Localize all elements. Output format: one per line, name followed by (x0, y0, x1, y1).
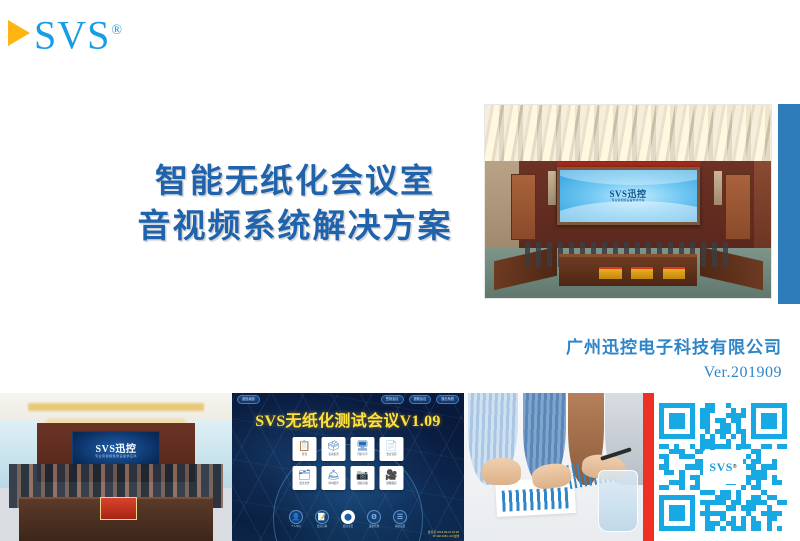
strip-image-conference-room: SVS迅控 专业音视频集成设备供应商 (0, 393, 232, 541)
tile-video-on-demand[interactable]: 📷 视频点播 (351, 466, 375, 490)
left-door (511, 174, 537, 240)
title-line-1: 智能无纸化会议室 (100, 158, 490, 203)
tile-vote[interactable]: 🗳 表决投票 (322, 437, 346, 461)
registered-trademark-icon: ® (111, 23, 123, 38)
desk-terminal (663, 267, 685, 279)
desk-terminals (599, 267, 685, 279)
vote-icon: 🗳 (327, 442, 340, 452)
slide-root: SVS® 智能无纸化会议室 音视频系统解决方案 SVS迅控 专业音视频设备整体方… (0, 0, 800, 541)
dock-device-management[interactable]: ⚙ 设备管理 (367, 510, 381, 529)
version-label: Ver.201909 (704, 364, 782, 382)
qr-center-logo: SVS® (703, 450, 743, 484)
strip-qr-panel: SVS® (643, 393, 800, 541)
tile-agenda[interactable]: 📄 会议议程 (380, 437, 404, 461)
triangle-icon (8, 20, 30, 46)
right-wall-panel (754, 161, 771, 248)
right-speaker (714, 171, 723, 206)
exit-system-button[interactable]: 退出系统 (436, 395, 459, 403)
ui-topbar: 返回桌面 签到会议 视频会议 退出系统 (232, 393, 464, 406)
tile-label: 签到 (302, 454, 307, 457)
dock-label: 个人中心 (291, 526, 301, 529)
status-line-2: IP:192.168.1.10 在线 (431, 535, 461, 539)
ui-status-bar: 会议室 2019-09-12 10:26 IP:192.168.1.10 在线 (426, 531, 461, 539)
strip-image-business-meeting (464, 393, 643, 541)
tile-screen-share[interactable]: 🖥 同屏共享 (351, 437, 375, 461)
dock-label: 设备管理 (369, 526, 379, 529)
dock-personal-center[interactable]: 👤 个人中心 (289, 510, 303, 529)
table-display (100, 497, 137, 521)
led-screen: SVS迅控 专业音视频设备整体方案 (560, 170, 697, 222)
service-icon: 🛎 (327, 471, 340, 481)
video-icon: 🎥 (385, 471, 397, 481)
screen-wave-top (560, 170, 697, 186)
tile-label: 会议议程 (386, 454, 396, 457)
red-accent-bar (643, 393, 654, 541)
ui-feature-grid: 📋 签到 🗳 表决投票 🖥 同屏共享 📄 会议议程 🗂 会议文件 (293, 437, 404, 490)
clipboard-icon: 📋 (298, 442, 310, 452)
network-icon: ⚙ (367, 510, 381, 524)
tile-label: 同屏共享 (357, 454, 367, 457)
tile-camera-tracking[interactable]: 🎥 摄像跟踪 (380, 466, 404, 490)
right-door (725, 174, 751, 240)
dock-home[interactable]: ⬤ 会议主页 (341, 510, 355, 529)
desk-terminal (599, 267, 621, 279)
ceiling (485, 105, 771, 163)
bar-chart-graphic (502, 487, 569, 511)
desk-terminal (631, 267, 653, 279)
tile-files[interactable]: 🗂 会议文件 (293, 466, 317, 490)
logo-wordmark: SVS® (34, 11, 123, 55)
list-icon: ☰ (393, 510, 407, 524)
screen-wave-bottom (560, 201, 697, 222)
folder-icon: 🗂 (298, 471, 311, 481)
signin-meeting-button[interactable]: 签到会议 (381, 395, 404, 403)
ui-dock: 👤 个人中心 📝 会议记事 ⬤ 会议主页 ⚙ 设备管理 ☰ 系统设置 (289, 510, 407, 529)
tile-signin[interactable]: 📋 签到 (293, 437, 317, 461)
tile-label: 摄像跟踪 (386, 483, 396, 486)
svs-logo: SVS® (8, 12, 123, 54)
video-meeting-button[interactable]: 视频会议 (409, 395, 432, 403)
left-speaker (548, 171, 557, 206)
tile-label: 呼叫服务 (328, 483, 338, 486)
document-icon: 📄 (385, 442, 397, 452)
title-line-2: 音视频系统解决方案 (100, 203, 490, 248)
back-to-desktop-button[interactable]: 返回桌面 (237, 395, 260, 403)
ui-title: SVS无纸化测试会议V1.09 (232, 407, 464, 431)
registered-trademark-icon: ® (733, 464, 737, 470)
dock-label: 系统设置 (395, 526, 405, 529)
dock-label: 会议记事 (317, 526, 327, 529)
tile-call-service[interactable]: 🛎 呼叫服务 (322, 466, 346, 490)
qr-code[interactable]: SVS® (659, 403, 787, 531)
logo-text: SVS (34, 12, 110, 57)
hero-conference-room-image: SVS迅控 专业音视频设备整体方案 (484, 104, 772, 299)
screen-brand: SVS迅控 专业音视频集成设备供应商 (95, 444, 137, 458)
dock-settings[interactable]: ☰ 系统设置 (393, 510, 407, 529)
blue-accent-bar (778, 104, 800, 304)
led-screen-frame: SVS迅控 专业音视频设备整体方案 (557, 167, 700, 225)
note-icon: 📝 (315, 510, 329, 524)
tile-label: 表决投票 (328, 454, 338, 457)
dock-notes[interactable]: 📝 会议记事 (315, 510, 329, 529)
screen-share-icon: 🖥 (356, 442, 369, 452)
strip-image-software-ui: 返回桌面 签到会议 视频会议 退出系统 SVS无纸化测试会议V1.09 📋 签到… (232, 393, 464, 541)
screen-brand-text: SVS迅控 (96, 444, 137, 455)
screen-brand-sub: 专业音视频设备整体方案 (609, 199, 646, 202)
dock-label: 会议主页 (343, 526, 353, 529)
page-title: 智能无纸化会议室 音视频系统解决方案 (100, 158, 490, 248)
water-glass (598, 470, 637, 532)
bottom-image-strip: SVS迅控 专业音视频集成设备供应商 返回桌面 签到会议 视频会议 退出系统 (0, 393, 800, 541)
screen-brand: SVS迅控 专业音视频设备整体方案 (609, 189, 646, 203)
company-name: 广州迅控电子科技有限公司 (566, 333, 782, 358)
topbar-right-buttons: 签到会议 视频会议 退出系统 (381, 395, 459, 403)
screen-brand-sub: 专业音视频集成设备供应商 (95, 455, 137, 458)
hand-1 (482, 458, 521, 485)
home-icon: ⬤ (341, 510, 355, 524)
camera-icon: 📷 (356, 471, 368, 481)
person-icon: 👤 (289, 510, 303, 524)
qr-logo-text: SVS (709, 460, 733, 475)
tile-label: 会议文件 (299, 483, 309, 486)
tile-label: 视频点播 (357, 483, 367, 486)
